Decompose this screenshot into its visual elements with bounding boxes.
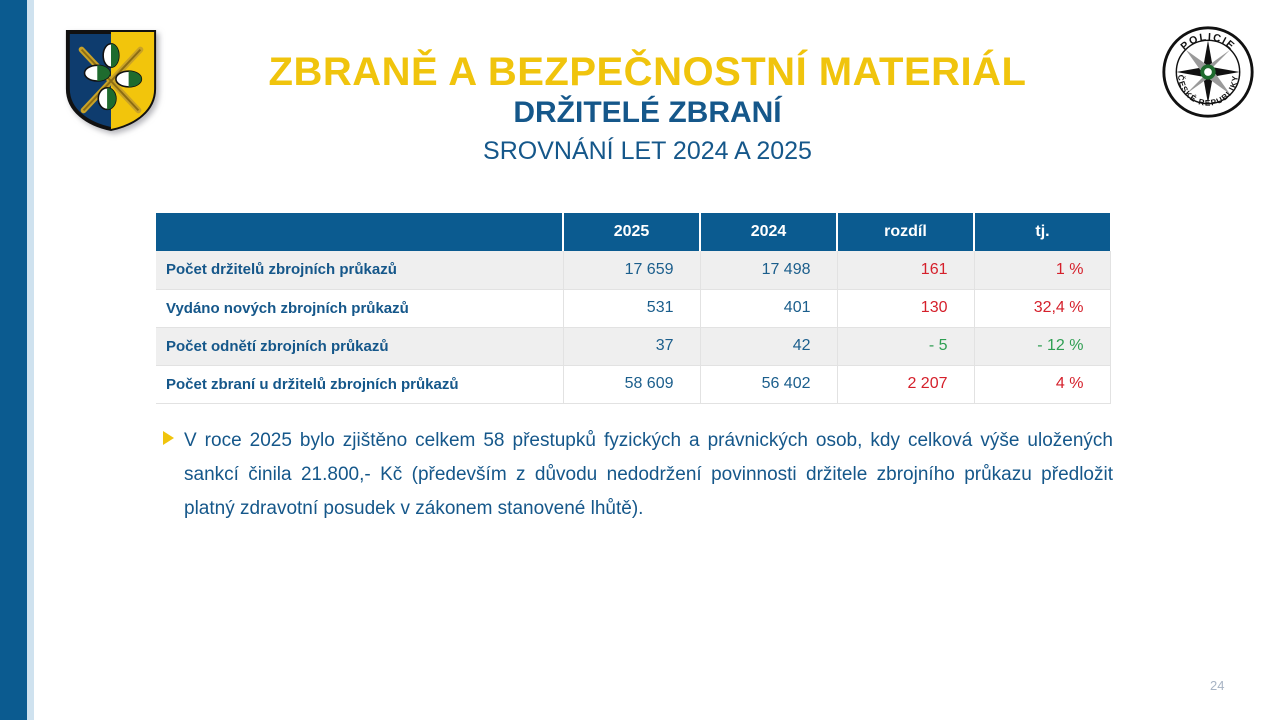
column-header-rozdil: rozdíl: [837, 213, 974, 251]
row-label: Počet držitelů zbrojních průkazů: [156, 251, 563, 289]
table-header-row: 2025 2024 rozdíl tj.: [156, 213, 1110, 251]
page-subtitle: DRŽITELÉ ZBRANÍ: [175, 96, 1120, 130]
row-label: Počet zbraní u držitelů zbrojních průkaz…: [156, 365, 563, 403]
police-badge-icon: POLICIE ČESKÉ REPUBLIKY: [1160, 24, 1256, 120]
page-title: ZBRANĚ A BEZPEČNOSTNÍ MATERIÁL: [175, 50, 1120, 95]
slide-root: POLICIE ČESKÉ REPUBLIKY ZBRANĚ A BEZPEČN…: [0, 0, 1280, 720]
row-label: Počet odnětí zbrojních průkazů: [156, 327, 563, 365]
cell-2024: 42: [700, 327, 837, 365]
bullet-note: V roce 2025 bylo zjištěno celkem 58 přes…: [163, 424, 1113, 526]
left-edge-bar-light: [27, 0, 34, 720]
table-row: Počet odnětí zbrojních průkazů 37 42 - 5…: [156, 327, 1110, 365]
cell-2025: 17 659: [563, 251, 700, 289]
cell-rozdil: 161: [837, 251, 974, 289]
cell-rozdil: - 5: [837, 327, 974, 365]
column-header-tj: tj.: [974, 213, 1110, 251]
cell-rozdil: 2 207: [837, 365, 974, 403]
cell-tj: 32,4 %: [974, 289, 1110, 327]
left-edge-bar-dark: [0, 0, 27, 720]
cell-rozdil: 130: [837, 289, 974, 327]
statistics-table: 2025 2024 rozdíl tj. Počet držitelů zbro…: [156, 213, 1111, 404]
table-row: Vydáno nových zbrojních průkazů 531 401 …: [156, 289, 1110, 327]
page-subsubtitle: SROVNÁNÍ LET 2024 A 2025: [175, 137, 1120, 166]
page-number: 24: [1210, 678, 1250, 693]
table-row: Počet držitelů zbrojních průkazů 17 659 …: [156, 251, 1110, 289]
column-header-2024: 2024: [700, 213, 837, 251]
cell-2025: 37: [563, 327, 700, 365]
cell-2024: 401: [700, 289, 837, 327]
column-header-label: [156, 213, 563, 251]
coat-of-arms-icon: [62, 28, 160, 132]
bullet-note-text: V roce 2025 bylo zjištěno celkem 58 přes…: [184, 424, 1113, 526]
cell-2025: 531: [563, 289, 700, 327]
triangle-bullet-icon: [163, 431, 174, 445]
cell-2024: 56 402: [700, 365, 837, 403]
cell-tj: - 12 %: [974, 327, 1110, 365]
cell-2025: 58 609: [563, 365, 700, 403]
cell-2024: 17 498: [700, 251, 837, 289]
cell-tj: 1 %: [974, 251, 1110, 289]
row-label: Vydáno nových zbrojních průkazů: [156, 289, 563, 327]
cell-tj: 4 %: [974, 365, 1110, 403]
table-row: Počet zbraní u držitelů zbrojních průkaz…: [156, 365, 1110, 403]
column-header-2025: 2025: [563, 213, 700, 251]
